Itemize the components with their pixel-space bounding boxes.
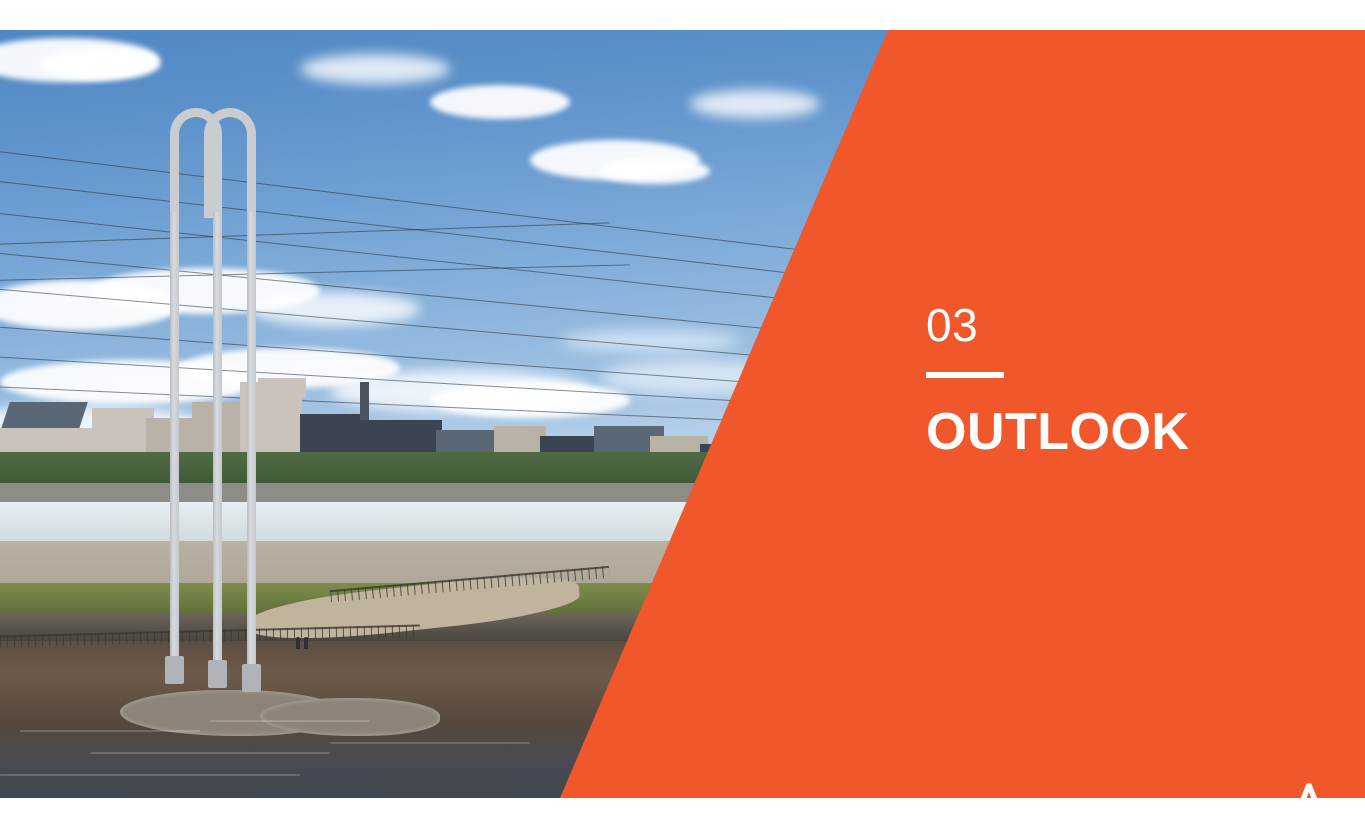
cloud [600, 158, 710, 184]
pylon-base [242, 664, 261, 692]
pylon-leg [213, 212, 222, 664]
water-reflection [210, 720, 370, 722]
cloud [690, 90, 820, 118]
cloud [430, 85, 570, 119]
slide-canvas: 03 OUTLOOK [0, 0, 1365, 829]
water-reflection [0, 774, 300, 776]
pedestrian [304, 637, 308, 649]
grain-elevator [258, 378, 306, 398]
section-number: 03 [926, 302, 1346, 348]
pylon-leg [170, 212, 179, 664]
pedestrian [296, 637, 300, 649]
pylon-leg [247, 212, 256, 664]
transmission-pylon [170, 108, 262, 668]
section-heading-block: 03 OUTLOOK [926, 302, 1346, 458]
title-divider-rule [926, 372, 1004, 378]
pylon-arch [204, 108, 256, 218]
page-title: OUTLOOK [926, 406, 1346, 458]
water-reflection [330, 742, 530, 744]
pylon-base [165, 656, 184, 684]
cloud [300, 54, 450, 84]
pylon-base [208, 660, 227, 688]
water-reflection [20, 730, 200, 732]
cloud [250, 292, 420, 326]
cloud [40, 48, 160, 80]
company-a-logo [1286, 782, 1328, 798]
slide-content-band: 03 OUTLOOK [0, 30, 1365, 798]
water-reflection [90, 752, 330, 754]
